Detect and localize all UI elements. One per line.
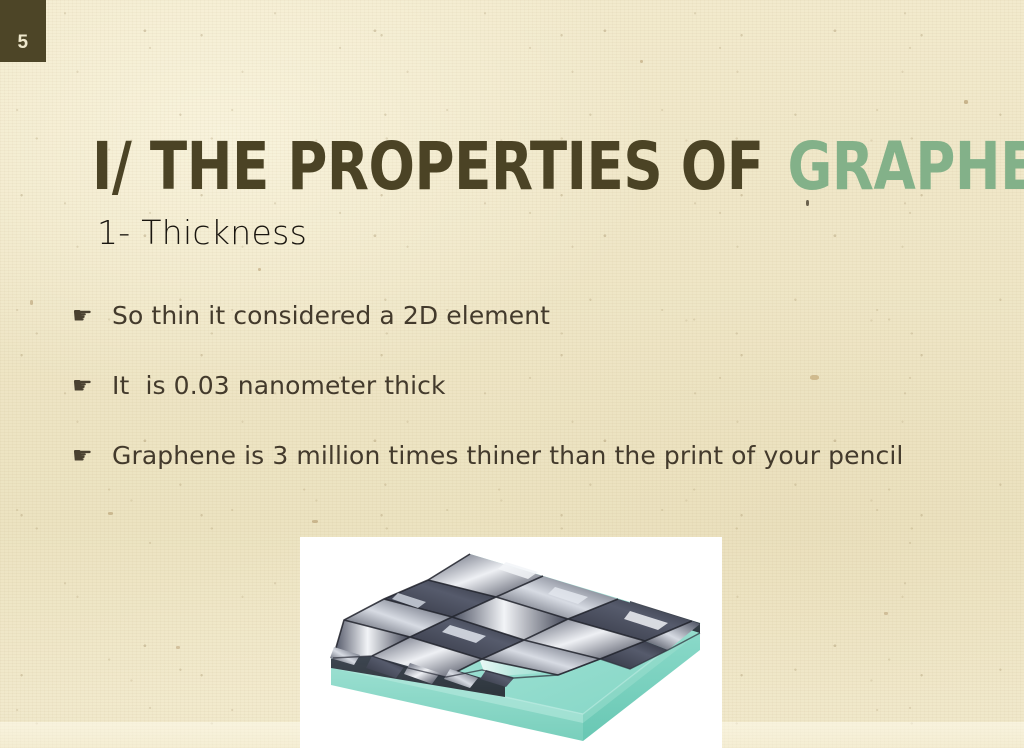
paper-fleck <box>884 612 888 615</box>
graphene-illustration-svg <box>300 537 722 748</box>
page-title-main: I/ THE PROPERTIES OF <box>92 128 764 205</box>
paper-fleck <box>108 512 113 515</box>
pointing-hand-icon: ☛ <box>72 441 112 472</box>
slide-number-label: 5 <box>17 33 28 52</box>
section-subtitle: 1- Thickness <box>97 214 307 252</box>
slide-number-badge: 5 <box>0 0 46 62</box>
list-item-label: Graphene is 3 million times thiner than … <box>112 440 903 471</box>
paper-fleck <box>964 100 968 104</box>
list-item: ☛ So thin it considered a 2D element <box>72 300 992 333</box>
paper-fleck <box>258 268 261 271</box>
list-item-label: It is 0.03 nanometer thick <box>112 370 446 401</box>
list-item-label: So thin it considered a 2D element <box>112 300 550 331</box>
slide-canvas: 5 I/ THE PROPERTIES OFGRAPHENE 1- Thickn… <box>0 0 1024 748</box>
list-item: ☛ Graphene is 3 million times thiner tha… <box>72 440 992 473</box>
paper-fleck <box>30 300 33 305</box>
pointing-hand-icon: ☛ <box>72 301 112 332</box>
list-item: ☛ It is 0.03 nanometer thick <box>72 370 992 403</box>
paper-fleck <box>640 60 643 63</box>
bullet-list: ☛ So thin it considered a 2D element ☛ I… <box>72 300 992 510</box>
paper-fleck <box>312 520 318 523</box>
page-title: I/ THE PROPERTIES OFGRAPHENE <box>92 132 1024 202</box>
paper-fleck <box>176 646 180 649</box>
graphene-layer-illustration <box>300 537 722 748</box>
page-title-accent: GRAPHENE <box>788 128 1024 205</box>
pointing-hand-icon: ☛ <box>72 371 112 402</box>
